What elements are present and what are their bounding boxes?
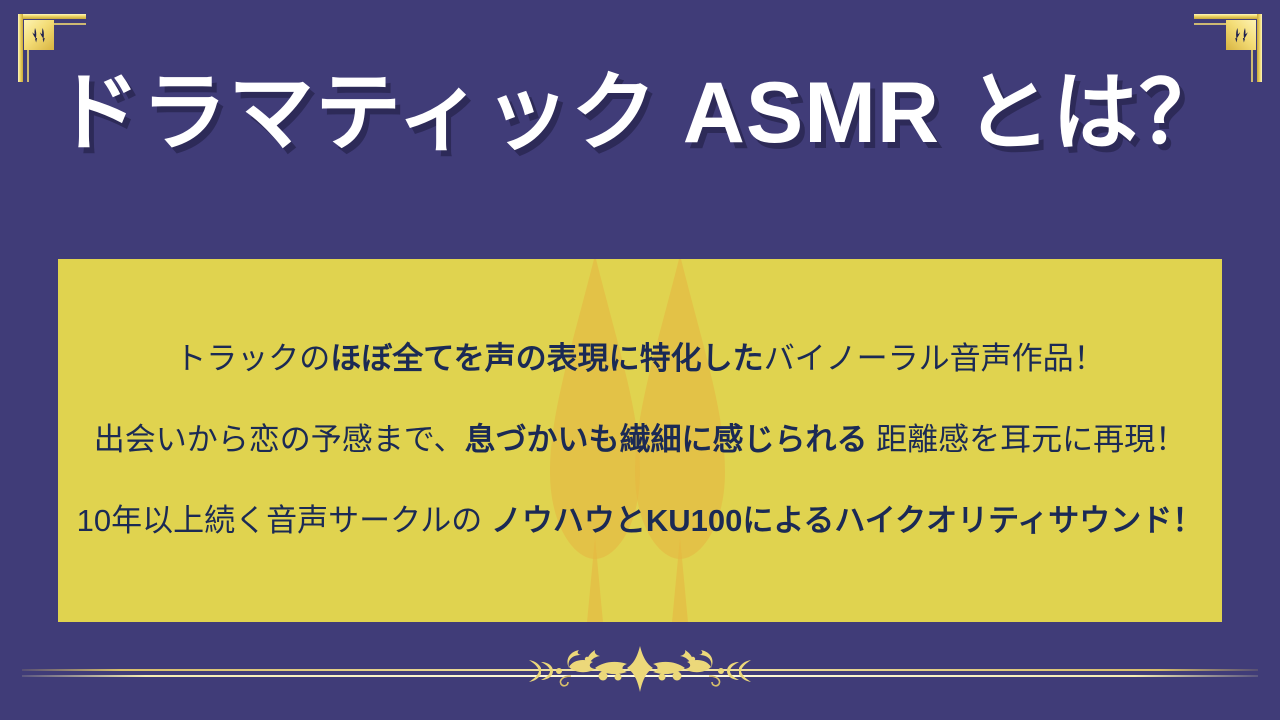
bullet-2-lead: 出会いから恋の予感まで、 [94,422,465,457]
bullet-line-2: 出会いから恋の予感まで、息づかいも繊細に感じられる 距離感を耳元に再現！ [72,421,1208,460]
corner-arm-horizontal-inner [1194,23,1256,25]
bullet-1-tail: バイノーラル音声作品！ [764,341,1105,376]
corner-crest-icon [24,20,54,50]
page-title: ドラマティック ASMR とは？ [0,68,1280,158]
bullet-list: トラックのほぼ全てを声の表現に特化したバイノーラル音声作品！ 出会いから恋の予感… [58,259,1222,622]
bullet-3-lead: 10年以上続く音声サークルの [77,503,483,538]
bullet-line-3: 10年以上続く音声サークルの ノウハウとKU100によるハイクオリティサウンド！ [72,502,1208,541]
corner-arm-horizontal [1194,14,1262,19]
bullet-2-tail: 距離感を耳元に再現！ [868,422,1187,457]
content-panel: トラックのほぼ全てを声の表現に特化したバイノーラル音声作品！ 出会いから恋の予感… [58,259,1222,622]
slide-canvas: ドラマティック ASMR とは？ トラックのほぼ全てを声の表現に特化したバイノー… [0,0,1280,720]
bullet-2-emphasis: 息づかいも繊細に感じられる [465,422,868,457]
bullet-line-1: トラックのほぼ全てを声の表現に特化したバイノーラル音声作品！ [72,340,1208,379]
bullet-1-lead: トラックの [175,341,330,376]
bullet-3-emphasis: ノウハウとKU100によるハイクオリティサウンド！ [482,503,1203,538]
bullet-1-emphasis: ほぼ全てを声の表現に特化した [330,341,763,376]
corner-crest-icon [1226,20,1256,50]
corner-arm-horizontal [18,14,86,19]
corner-arm-horizontal-inner [24,23,86,25]
footer-filigree-ornament-icon [475,638,805,704]
